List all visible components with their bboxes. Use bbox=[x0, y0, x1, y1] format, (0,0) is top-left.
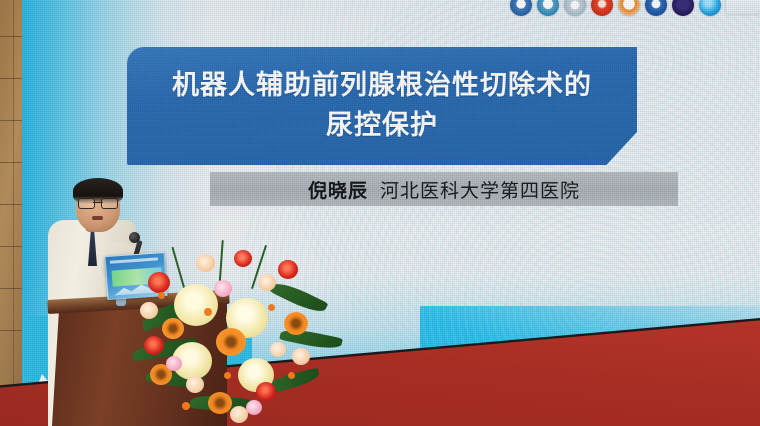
slide-title-line-1: 机器人辅助前列腺根治性切除术的 bbox=[172, 66, 592, 106]
logo-badge-3 bbox=[564, 0, 586, 16]
slide-title-banner: 机器人辅助前列腺根治性切除术的 尿控保护 bbox=[127, 47, 637, 165]
logo-badge-2 bbox=[537, 0, 559, 16]
speaker-mouth bbox=[92, 216, 103, 220]
slide-title-line-2: 尿控保护 bbox=[326, 106, 438, 146]
microphone-head-icon bbox=[129, 232, 140, 243]
logo-badge-7 bbox=[672, 0, 694, 16]
flower-bouquet bbox=[138, 246, 338, 426]
slide-speaker-name: 倪晓辰 bbox=[308, 176, 368, 203]
eyeglasses-icon bbox=[78, 198, 118, 207]
slide-affiliation: 河北医科大学第四医院 bbox=[380, 176, 580, 203]
screenshot-root: 机器人辅助前列腺根治性切除术的 尿控保护 倪晓辰 河北医科大学第四医院 TUMO… bbox=[0, 0, 760, 426]
logo-badge-8 bbox=[699, 0, 721, 16]
slide-subtitle-band: 倪晓辰 河北医科大学第四医院 bbox=[210, 172, 678, 206]
logo-badge-6 bbox=[645, 0, 667, 16]
logo-badge-1 bbox=[510, 0, 532, 16]
logo-badge-9 bbox=[726, 0, 760, 14]
logo-badge-4 bbox=[591, 0, 613, 16]
logo-badge-5 bbox=[618, 0, 640, 16]
logo-strip bbox=[322, 0, 760, 26]
